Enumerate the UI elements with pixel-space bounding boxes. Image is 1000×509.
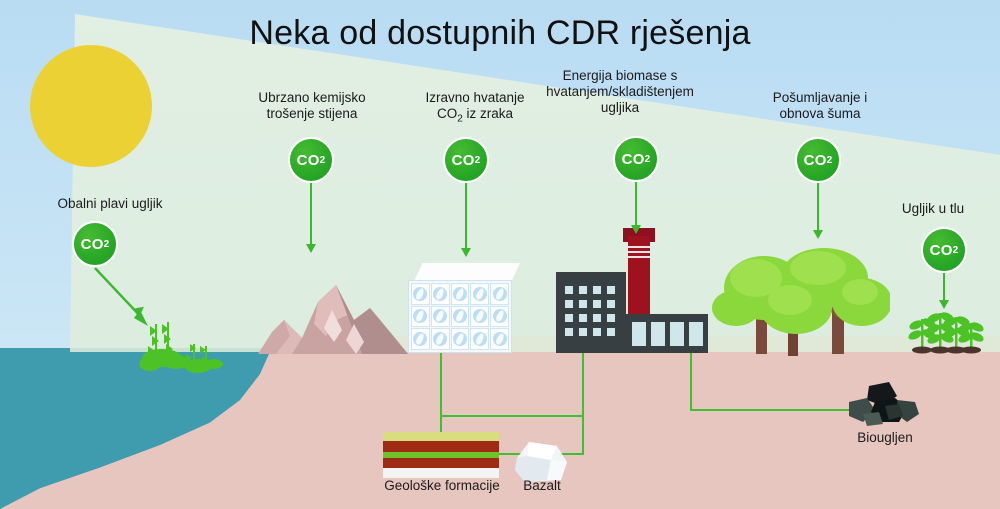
label-text: Bazalt (523, 478, 561, 493)
annex-window (689, 322, 703, 346)
biomass-power-plant (556, 228, 708, 353)
co2-bubble-afforestation[interactable]: CO2 (795, 137, 841, 183)
co2-subscript: 2 (953, 245, 959, 256)
connector-biochar-across (690, 409, 856, 411)
infographic-canvas: Neka od dostupnih CDR rješenja (0, 0, 1000, 509)
page-title: Neka od dostupnih CDR rješenja (0, 14, 1000, 53)
dac-fan-cell (470, 283, 489, 305)
dac-fan-cell (490, 328, 509, 350)
fan-icon (473, 287, 487, 301)
fan-icon (453, 287, 467, 301)
co2-text: CO (297, 152, 320, 169)
label-beccs: Energija biomase s hvatanjem/skladištenj… (530, 68, 710, 116)
dac-fan-cell (411, 306, 430, 328)
smokestack-band (628, 251, 650, 253)
arrow-direct-air-capture (465, 183, 467, 249)
label-coastal-blue-carbon: Obalni plavi ugljik (10, 196, 210, 212)
factory-window (579, 286, 587, 294)
geo-layer-base (383, 468, 499, 478)
fan-icon (413, 332, 427, 346)
fan-icon (433, 287, 447, 301)
co2-bubble-soil-carbon[interactable]: CO2 (921, 227, 967, 273)
co2-subscript: 2 (320, 155, 326, 166)
label-text-line1: Pošumljavanje i (735, 90, 905, 106)
co2-subscript: 2 (645, 154, 651, 165)
dac-fan-cell (451, 283, 470, 305)
co2-subscript: 2 (475, 155, 481, 166)
connector-biochar-down (690, 353, 692, 411)
factory-window (593, 328, 601, 336)
factory-window (607, 286, 615, 294)
dac-fan-cell (411, 328, 430, 350)
co2-text: CO (452, 152, 475, 169)
factory-window (579, 300, 587, 308)
smokestack (628, 236, 650, 318)
soil-seedlings (908, 305, 984, 357)
connector-trunk-down (582, 415, 584, 455)
label-text-line1: Energija biomase s (530, 68, 710, 84)
factory-window (565, 328, 573, 336)
biochar-illustration (845, 382, 923, 428)
annex-window (651, 322, 665, 346)
factory-window (579, 328, 587, 336)
co2-bubble-enhanced-rock-weathering[interactable]: CO2 (288, 137, 334, 183)
co2-subscript: 2 (104, 239, 110, 250)
label-text-line2: trošenje stijena (222, 106, 402, 122)
fan-icon (493, 287, 507, 301)
dac-fan-grid (408, 280, 512, 353)
fan-icon (493, 309, 507, 323)
fan-icon (413, 287, 427, 301)
factory-window (579, 314, 587, 322)
dac-fan-cell (470, 328, 489, 350)
label-co2-rest: iz zraka (463, 106, 513, 121)
dac-fan-cell (411, 283, 430, 305)
dac-fan-cell (431, 328, 450, 350)
fan-icon (453, 309, 467, 323)
dac-fan-cell (490, 306, 509, 328)
dac-fan-cell (451, 328, 470, 350)
label-biochar: Biougljen (832, 430, 938, 446)
arrow-enhanced-rock-weathering (310, 183, 312, 245)
fan-icon (413, 309, 427, 323)
co2-text: CO (81, 236, 104, 253)
label-text: Ugljik u tlu (902, 201, 964, 216)
co2-text: CO (622, 151, 645, 168)
fan-icon (433, 309, 447, 323)
co2-subscript: 2 (827, 155, 833, 166)
fan-icon (473, 309, 487, 323)
label-soil-carbon: Ugljik u tlu (868, 201, 998, 217)
arrow-beccs (635, 182, 637, 226)
co2-text: CO (930, 242, 953, 259)
label-text: Obalni plavi ugljik (57, 196, 162, 211)
label-text-line2: hvatanjem/skladištenjem (530, 84, 710, 100)
connector-dac-down (440, 353, 442, 417)
co2-text: CO (804, 152, 827, 169)
factory-window (565, 300, 573, 308)
factory-window (593, 314, 601, 322)
factory-window (593, 300, 601, 308)
label-text: Biougljen (857, 430, 913, 445)
co2-bubble-coastal-blue-carbon[interactable]: CO2 (72, 221, 118, 267)
fan-icon (493, 332, 507, 346)
factory-window (607, 314, 615, 322)
connector-factory-down (582, 353, 584, 417)
label-text-line3: ugljika (530, 100, 710, 116)
mountain-illustration (258, 280, 408, 354)
forest-illustration (712, 246, 890, 356)
label-text-line2: obnova šuma (735, 106, 905, 122)
smokestack-band (628, 256, 650, 258)
dac-fan-cell (431, 283, 450, 305)
factory-window (565, 286, 573, 294)
label-co2: CO (437, 106, 457, 121)
geological-formations-illustration (383, 432, 499, 478)
factory-main-building (556, 272, 626, 353)
arrow-afforestation (817, 183, 819, 231)
dac-fan-cell (431, 306, 450, 328)
sun-icon (30, 45, 152, 167)
smokestack-band (628, 246, 650, 248)
co2-bubble-direct-air-capture[interactable]: CO2 (443, 137, 489, 183)
annex-window (632, 322, 646, 346)
label-text-line1: Ubrzano kemijsko (222, 90, 402, 106)
factory-window (607, 300, 615, 308)
co2-bubble-beccs[interactable]: CO2 (613, 136, 659, 182)
fan-icon (453, 332, 467, 346)
annex-window (670, 322, 684, 346)
factory-window (607, 328, 615, 336)
direct-air-capture-unit (404, 263, 520, 353)
connector-dac-across (440, 415, 584, 417)
fan-icon (473, 332, 487, 346)
arrow-soil-carbon (943, 273, 945, 301)
factory-window (593, 286, 601, 294)
label-enhanced-rock-weathering: Ubrzano kemijsko trošenje stijena (222, 90, 402, 122)
label-basalt: Bazalt (500, 478, 584, 494)
label-afforestation: Pošumljavanje i obnova šuma (735, 90, 905, 122)
label-text: Geološke formacije (384, 478, 500, 493)
factory-window (565, 314, 573, 322)
fan-icon (433, 332, 447, 346)
dac-fan-cell (490, 283, 509, 305)
dac-fan-cell (470, 306, 489, 328)
dac-fan-cell (451, 306, 470, 328)
arrow-coastal-blue-carbon (92, 266, 160, 332)
